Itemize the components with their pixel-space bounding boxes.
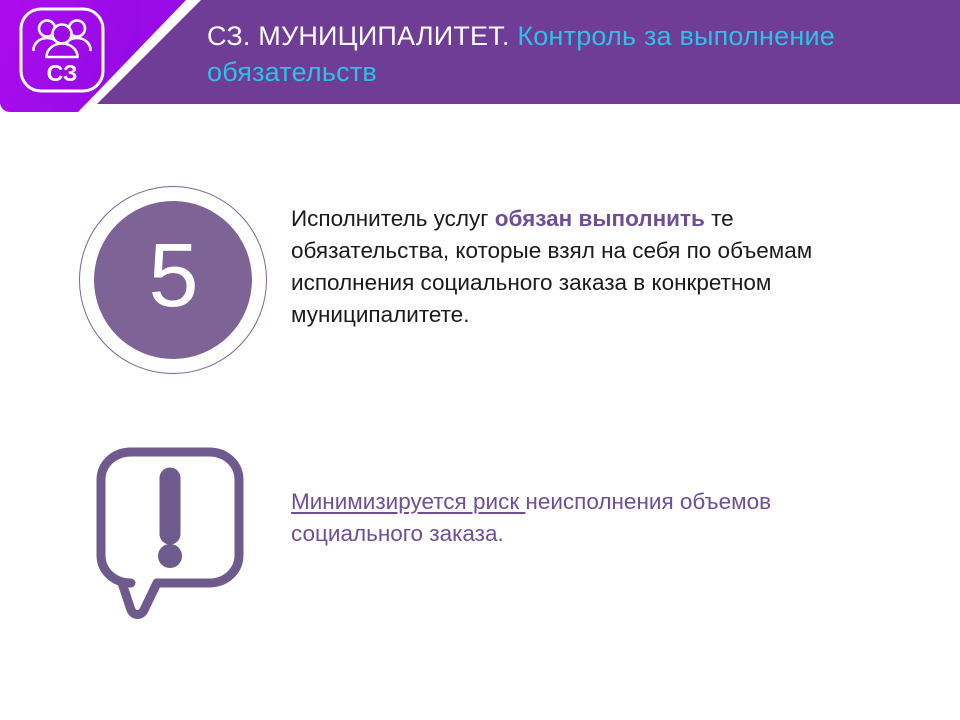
page-title-primary: СЗ. МУНИЦИПАЛИТЕТ. — [207, 21, 510, 51]
logo-badge-label: СЗ — [47, 60, 78, 86]
slide-header: СЗ СЗ. МУНИЦИПАЛИТЕТ. Контроль за выполн… — [0, 0, 960, 104]
logo-badge: СЗ — [18, 6, 106, 94]
numbered-point-row: 5 Исполнитель услуг обязан выполнить те … — [0, 186, 960, 396]
note-row: Минимизируется риск неисполнения объемов… — [0, 438, 960, 628]
page-title: СЗ. МУНИЦИПАЛИТЕТ. Контроль за выполнени… — [207, 18, 947, 90]
point-body-text: Исполнитель услуг обязан выполнить те об… — [291, 203, 856, 331]
exclamation-speech-bubble-icon — [78, 438, 264, 620]
people-group-icon — [34, 21, 91, 58]
point-number-badge: 5 — [79, 186, 267, 374]
slide-root: СЗ СЗ. МУНИЦИПАЛИТЕТ. Контроль за выполн… — [0, 0, 960, 720]
point-number-value: 5 — [148, 231, 197, 321]
note-text-underlined: Минимизируется риск — [291, 489, 525, 514]
note-body-text: Минимизируется риск неисполнения объемов… — [291, 486, 891, 550]
point-text-lead: Исполнитель услуг — [291, 206, 495, 231]
point-number-disc: 5 — [94, 201, 252, 359]
point-text-emphasis: обязан выполнить — [495, 206, 705, 231]
